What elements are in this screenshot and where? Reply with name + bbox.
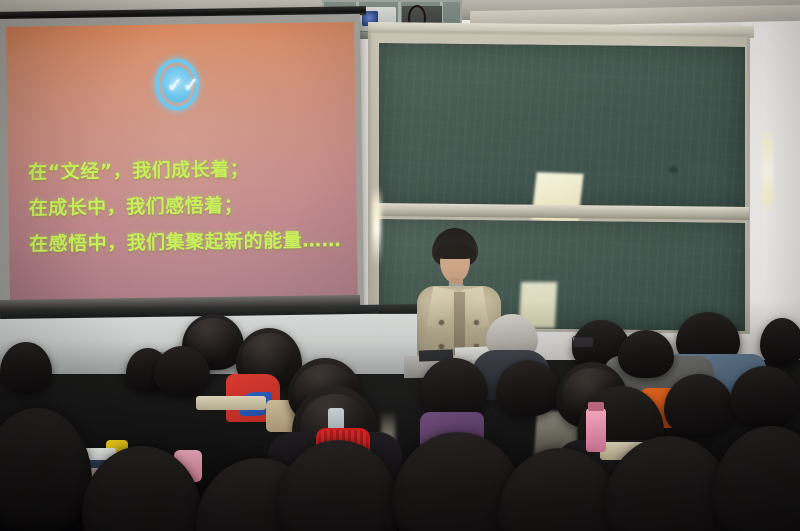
- projection-screen: ✓✓ 在“文经”，我们成长着； 在成长中，我们感悟着； 在感悟中，我们集聚起新的…: [0, 14, 364, 316]
- desk-edge: [196, 396, 266, 410]
- slide-surface: ✓✓ 在“文经”，我们成长着； 在成长中，我们感悟着； 在感悟中，我们集聚起新的…: [6, 22, 358, 306]
- sunlight-sliver-edge: [372, 186, 381, 266]
- audience-head: [760, 318, 800, 366]
- slide-line-2: 在成长中，我们感悟着；: [28, 186, 348, 226]
- blackboard-middle-rail: [375, 203, 749, 220]
- pink-thermos: [586, 408, 606, 452]
- audience-head: [618, 330, 674, 378]
- eyeglasses-icon: [572, 336, 594, 348]
- classroom-photo: ✓✓ 在“文经”，我们成长着； 在成长中，我们感悟着； 在感悟中，我们集聚起新的…: [0, 0, 800, 531]
- audience-head: [154, 346, 210, 396]
- audience-head: [420, 358, 488, 418]
- audience-head: [730, 366, 800, 426]
- slide-line-1: 在“文经”，我们成长着；: [28, 150, 348, 190]
- sunlight-strip-right: [762, 128, 773, 213]
- audience-area: [0, 300, 800, 531]
- audience-head: [496, 360, 560, 416]
- thermos-cap: [588, 402, 604, 411]
- blackboard-panel-upper: [379, 43, 745, 207]
- audience-head: [664, 374, 734, 436]
- chalk-smudge: [669, 166, 678, 173]
- emblem-glyph: ✓✓: [167, 75, 187, 97]
- slide-line-3: 在感悟中，我们集聚起新的能量……: [29, 222, 349, 262]
- audience-head: [0, 342, 52, 394]
- school-emblem-icon: ✓✓: [155, 58, 200, 111]
- slide-text-block: 在“文经”，我们成长着； 在成长中，我们感悟着； 在感悟中，我们集聚起新的能量……: [28, 150, 349, 262]
